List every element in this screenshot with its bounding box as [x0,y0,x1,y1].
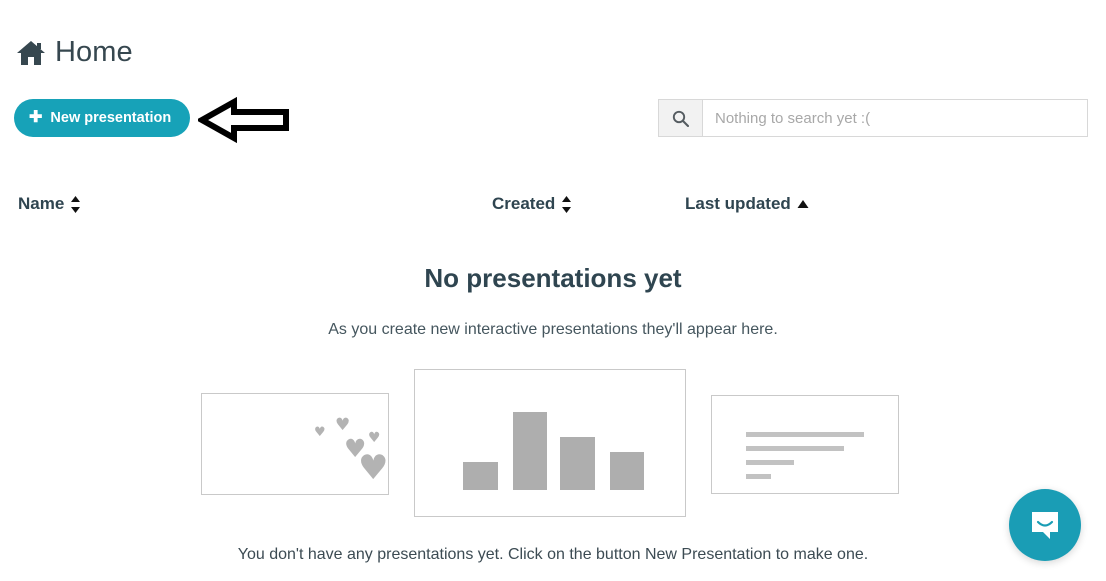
column-header-created[interactable]: Created [492,194,572,214]
search-input[interactable] [702,99,1088,137]
empty-state-footer: You don't have any presentations yet. Cl… [0,546,1106,564]
left-arrow-annotation-icon [198,96,290,144]
chat-bubble-icon [1028,508,1062,542]
sort-both-icon[interactable] [561,196,572,213]
sort-both-icon[interactable] [70,196,81,213]
chart-bar [560,437,595,490]
column-header-last-updated-label: Last updated [685,194,791,214]
column-header-last-updated[interactable]: Last updated [685,194,809,214]
new-presentation-label: New presentation [50,110,171,126]
hearts-placeholder-card: ♥ ♥ ♥ ♥ ♥ [201,393,389,495]
page-header: Home [16,38,133,67]
new-presentation-button[interactable]: ✚ New presentation [14,99,190,137]
empty-state-subtitle: As you create new interactive presentati… [0,321,1106,339]
search-icon[interactable] [658,99,702,137]
chart-bar [463,462,498,490]
table-header-row: Name Created Last updated [0,194,1106,222]
heart-icon: ♥ [314,426,326,439]
column-header-name-label: Name [18,194,64,214]
text-placeholder-card [711,395,899,494]
text-line [746,446,844,451]
house-icon [16,40,46,66]
page-title: Home [55,38,133,67]
plus-icon: ✚ [29,110,42,126]
column-header-name[interactable]: Name [18,194,81,214]
heart-icon: ♥ [358,451,388,485]
chart-bar [610,452,644,490]
text-line [746,432,864,437]
chart-placeholder-card [414,369,686,517]
chart-bar [513,412,547,490]
heart-icon: ♥ [335,417,350,434]
sort-up-icon[interactable] [797,200,809,209]
chat-launcher-button[interactable] [1009,489,1081,561]
column-header-created-label: Created [492,194,555,214]
text-line [746,474,771,479]
empty-state-title: No presentations yet [0,263,1106,294]
heart-icon: ♥ [368,431,381,445]
search-bar[interactable] [658,99,1088,137]
text-line [746,460,794,465]
